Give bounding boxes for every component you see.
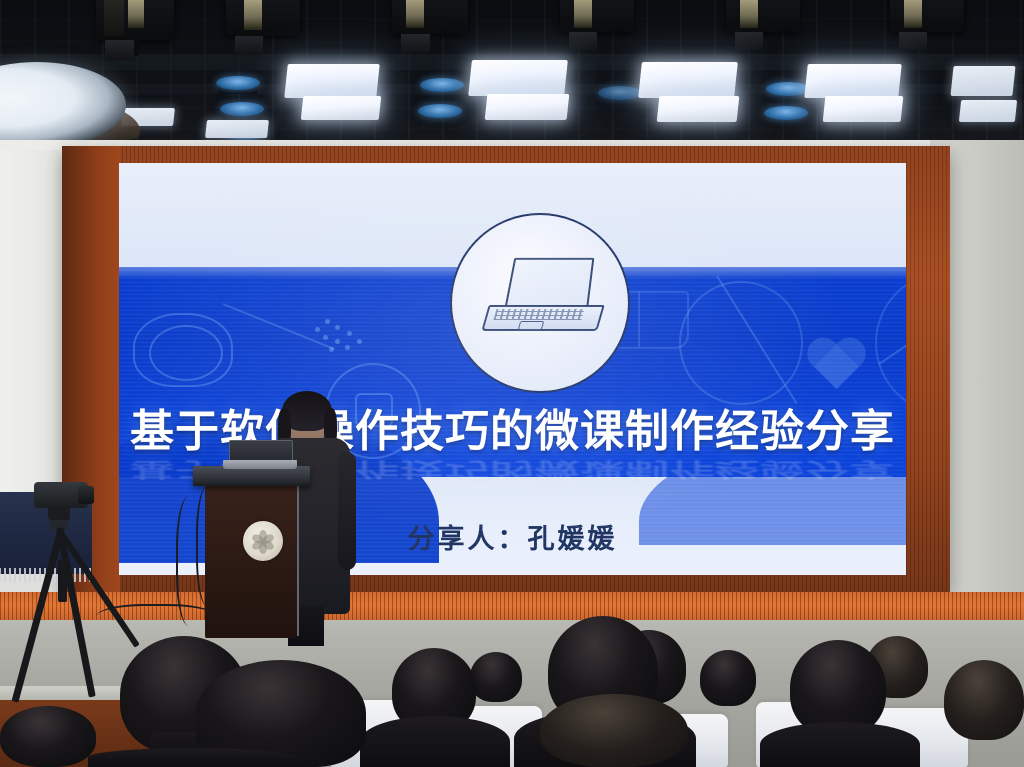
tripod-center-column	[58, 560, 67, 602]
laptop-trackpad	[518, 321, 545, 330]
blue-stage-lamp-lens	[598, 86, 642, 100]
podium-laptop	[223, 440, 297, 470]
led-panel-light	[485, 94, 570, 120]
barn-door-flap	[244, 0, 262, 30]
led-panel-light	[657, 96, 740, 122]
led-panel-light	[205, 120, 269, 138]
barn-door-flap	[406, 0, 424, 28]
laptop-keyboard	[493, 309, 584, 320]
barn-door-flap	[574, 0, 592, 28]
rosette-flower	[252, 530, 274, 552]
blue-stage-lamp-lens	[766, 82, 810, 96]
blue-stage-lamp-lens	[220, 102, 264, 116]
audience-shoulders	[88, 748, 298, 767]
audience-head	[540, 694, 688, 767]
audience-shoulders	[760, 722, 920, 767]
led-panel-light	[468, 60, 568, 96]
blue-stage-lamp-lens	[418, 104, 462, 118]
tripod-head	[48, 506, 70, 520]
led-panel-light	[284, 64, 380, 98]
barn-door-flap	[104, 0, 124, 36]
led-panel-light	[823, 96, 904, 122]
audience-head	[470, 652, 522, 702]
blue-stage-lamp-lens	[764, 106, 808, 120]
blue-stage-lamp-lens	[216, 76, 260, 90]
molecule-dots	[315, 319, 365, 357]
led-panel-light	[950, 66, 1015, 96]
laptop-badge-circle	[450, 213, 630, 393]
barn-door-spotlight	[226, 0, 300, 36]
presentation-photo-scene: 基于软件操作技巧的微课制作经验分享 基于软件操作技巧的微课制作经验分享 分享人：…	[0, 0, 1024, 767]
led-panel-light	[638, 62, 738, 98]
audience-head	[700, 650, 756, 706]
headphones-line-art	[149, 325, 223, 381]
audience-head	[0, 706, 96, 767]
barn-door-spotlight	[726, 0, 800, 32]
laptop-icon	[485, 257, 597, 335]
barn-door-spotlight	[890, 0, 964, 32]
barn-door-flap	[904, 0, 922, 28]
barn-door-spotlight	[392, 0, 468, 34]
blue-stage-lamp-lens	[420, 78, 464, 92]
podium-rosette-medallion	[243, 521, 283, 561]
podium-laptop-base	[223, 460, 297, 469]
presenter-arm	[338, 452, 356, 570]
led-panel-light	[804, 64, 902, 98]
led-panel-light	[959, 100, 1017, 122]
video-camera-lens	[78, 486, 94, 504]
ceiling-truss	[0, 0, 1024, 152]
audience-shoulders	[360, 716, 510, 767]
led-panel-light	[301, 96, 382, 120]
barn-door-flap	[740, 0, 758, 28]
barn-door-spotlight	[560, 0, 634, 32]
audience-head	[944, 660, 1024, 740]
barn-door-flap	[128, 0, 144, 28]
heart-line-art	[805, 339, 867, 395]
spotlight-stem	[134, 34, 138, 56]
